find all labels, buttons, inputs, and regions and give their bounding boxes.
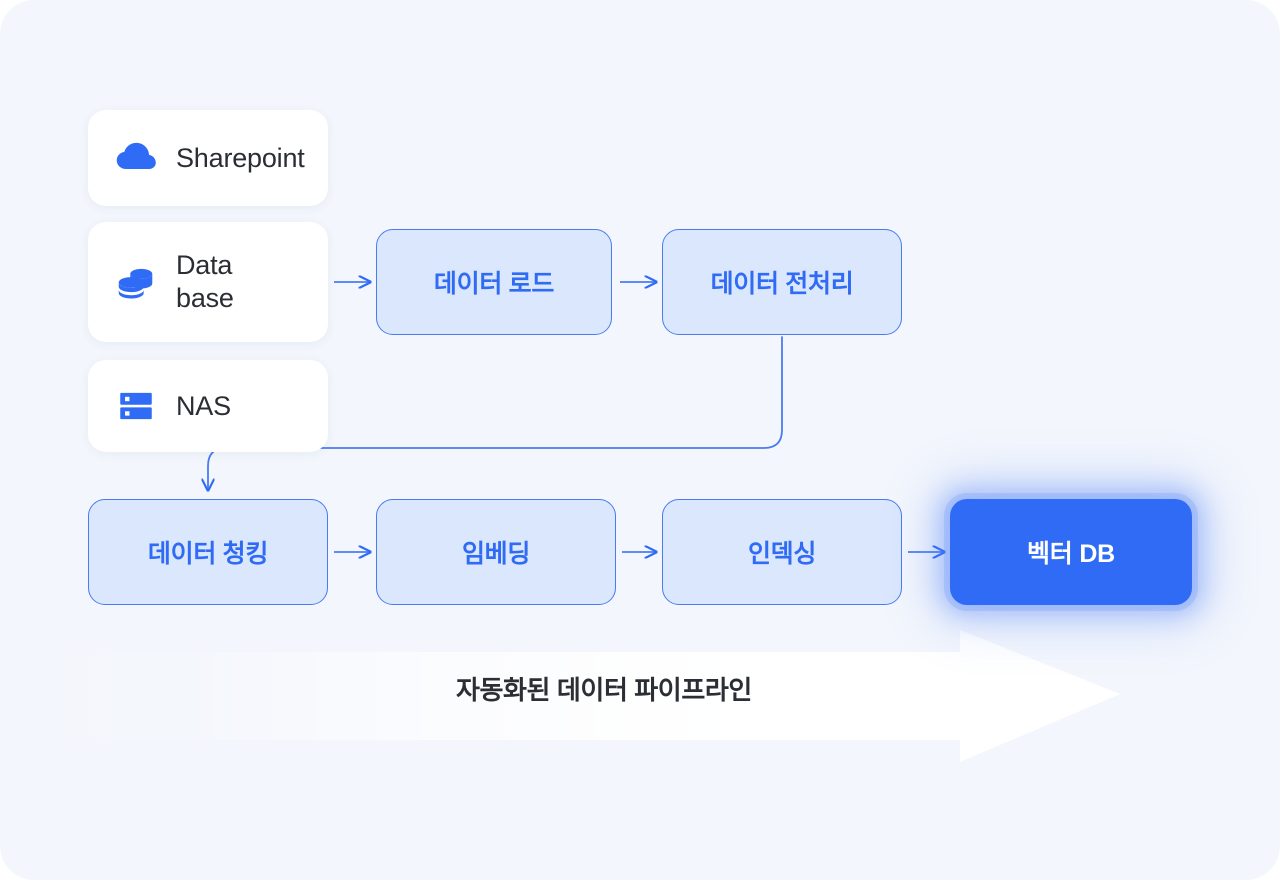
database-icon (110, 256, 162, 308)
pipeline-banner-label: 자동화된 데이터 파이프라인 (456, 670, 752, 707)
process-box-label: 데이터 청킹 (148, 534, 268, 570)
panel-background: 자동화된 데이터 파이프라인 Sharepoint (0, 0, 1280, 880)
source-card-database[interactable]: Data base (88, 222, 328, 342)
process-box-label: 데이터 로드 (434, 264, 554, 300)
process-box-indexing[interactable]: 인덱싱 (662, 499, 902, 605)
process-box-chunking[interactable]: 데이터 청킹 (88, 499, 328, 605)
source-card-label: NAS (176, 390, 231, 423)
source-card-label: Sharepoint (176, 142, 305, 175)
process-box-preprocessing[interactable]: 데이터 전처리 (662, 229, 902, 335)
process-box-data-load[interactable]: 데이터 로드 (376, 229, 612, 335)
source-card-sharepoint[interactable]: Sharepoint (88, 110, 328, 206)
server-rack-icon (110, 380, 162, 432)
cloud-icon (110, 132, 162, 184)
process-box-vector-db[interactable]: 벡터 DB (950, 499, 1192, 605)
process-box-label: 벡터 DB (1027, 534, 1115, 570)
process-box-embedding[interactable]: 임베딩 (376, 499, 616, 605)
diagram-canvas: 자동화된 데이터 파이프라인 Sharepoint (0, 0, 1280, 880)
source-card-label: Data base (176, 249, 234, 315)
process-box-label: 인덱싱 (748, 534, 816, 570)
process-box-label: 데이터 전처리 (711, 264, 854, 300)
source-card-nas[interactable]: NAS (88, 360, 328, 452)
process-box-label: 임베딩 (462, 534, 530, 570)
